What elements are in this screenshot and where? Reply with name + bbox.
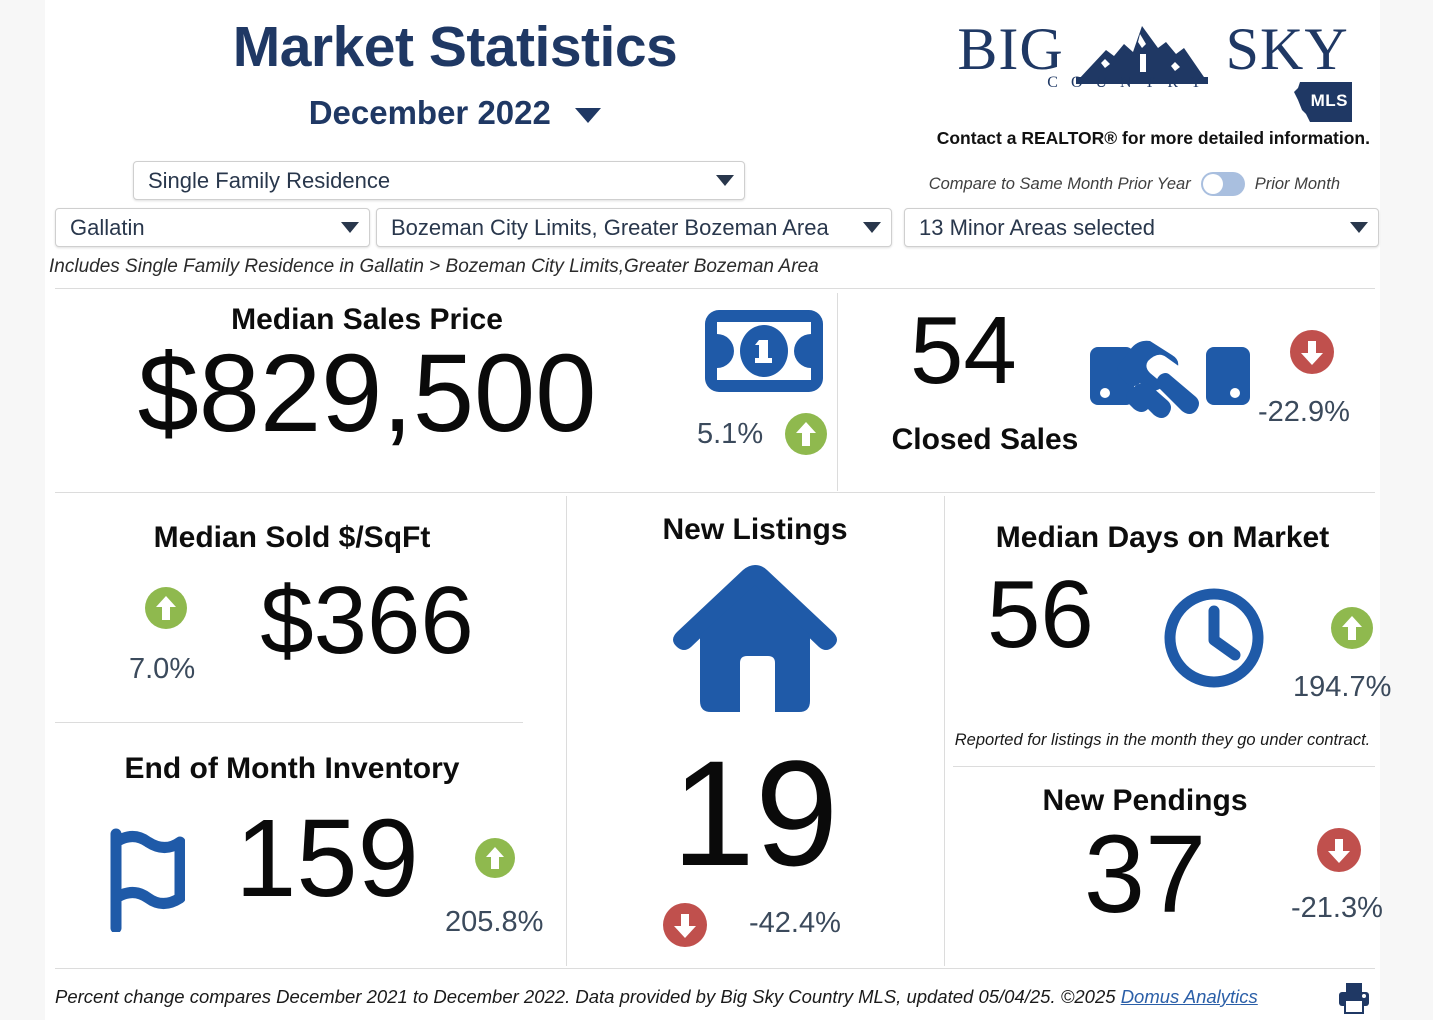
compare-period-toggle[interactable] xyxy=(1201,172,1245,196)
county-select[interactable]: Gallatin xyxy=(55,208,370,247)
arrow-down-badge-icon xyxy=(1290,330,1334,374)
house-icon xyxy=(670,561,840,716)
card-end-of-month-inventory: End of Month Inventory 159 205.8% xyxy=(57,728,527,968)
divider-vertical-top xyxy=(837,293,838,491)
card-median-days-on-market: Median Days on Market 56 194.7% Reported… xyxy=(945,503,1380,758)
footer-text: Percent change compares December 2021 to… xyxy=(55,986,1121,1007)
median-sales-price-value: $829,500 xyxy=(57,339,677,449)
compare-prior-year-label: Compare to Same Month Prior Year xyxy=(929,175,1191,194)
arrow-up-badge-icon xyxy=(1331,607,1373,649)
logo-mls-text: MLS xyxy=(1311,91,1348,111)
area-value: Bozeman City Limits, Greater Bozeman Are… xyxy=(391,215,855,241)
county-value: Gallatin xyxy=(70,215,333,241)
flag-icon xyxy=(107,828,185,932)
closed-sales-change: -22.9% xyxy=(1258,396,1350,429)
logo-word-big: BIG xyxy=(957,16,1063,82)
domus-analytics-link[interactable]: Domus Analytics xyxy=(1121,986,1258,1007)
minor-areas-value: 13 Minor Areas selected xyxy=(919,215,1342,241)
new-listings-value: 19 xyxy=(569,738,941,888)
days-on-market-change: 194.7% xyxy=(1293,671,1391,704)
includes-description: Includes Single Family Residence in Gall… xyxy=(49,256,819,278)
page-title: Market Statistics xyxy=(45,14,865,80)
card-title: Median Sold $/SqFt xyxy=(57,521,527,555)
arrow-up-badge-icon xyxy=(145,587,187,629)
end-of-month-inventory-value: 159 xyxy=(197,804,457,914)
median-sales-price-change: 5.1% xyxy=(697,413,827,455)
change-percent: 5.1% xyxy=(697,418,763,451)
arrow-up-badge-icon xyxy=(475,838,515,878)
divider-sqft-bottom xyxy=(55,722,523,723)
money-bill-icon xyxy=(705,310,823,392)
chevron-down-icon[interactable] xyxy=(863,222,881,233)
divider-footer-top xyxy=(55,968,1375,969)
property-type-select[interactable]: Single Family Residence xyxy=(133,161,745,200)
divider-vertical-left xyxy=(566,496,567,966)
chevron-down-icon[interactable] xyxy=(1350,222,1368,233)
dashboard-page: Market Statistics December 2022 BIG SKY xyxy=(45,0,1380,1020)
footer-note: Percent change compares December 2021 to… xyxy=(55,986,1258,1008)
card-title: Median Days on Market xyxy=(945,521,1380,555)
arrow-down-badge-icon xyxy=(1317,828,1361,872)
month-selector[interactable]: December 2022 xyxy=(45,94,865,132)
area-select[interactable]: Bozeman City Limits, Greater Bozeman Are… xyxy=(376,208,892,247)
printer-icon[interactable] xyxy=(1337,982,1371,1014)
new-pendings-value: 37 xyxy=(945,820,1345,930)
big-sky-country-mls-logo: BIG SKY COUNTRY MLS xyxy=(938,8,1368,108)
contact-realtor-note: Contact a REALTOR® for more detailed inf… xyxy=(937,128,1370,149)
median-sold-sqft-value: $366 xyxy=(207,573,527,669)
days-on-market-note: Reported for listings in the month they … xyxy=(945,731,1380,750)
card-title: New Listings xyxy=(569,513,941,547)
card-title: End of Month Inventory xyxy=(57,752,527,786)
compare-toggle-group[interactable]: Compare to Same Month Prior Year Prior M… xyxy=(929,172,1340,196)
divider-header-bottom xyxy=(55,288,1375,289)
closed-sales-value: 54 xyxy=(910,303,1017,399)
month-label: December 2022 xyxy=(309,94,551,131)
compare-prior-month-label: Prior Month xyxy=(1255,175,1340,194)
logo-country-text: COUNTRY xyxy=(916,74,1346,92)
divider-dom-bottom xyxy=(953,766,1375,767)
card-median-sales-price: Median Sales Price $829,500 5.1% xyxy=(57,293,837,493)
arrow-up-badge-icon xyxy=(785,413,827,455)
days-on-market-value: 56 xyxy=(987,567,1094,663)
card-new-pendings: New Pendings 37 -21.3% xyxy=(945,770,1380,968)
card-new-listings: New Listings 19 -42.4% xyxy=(569,503,941,968)
clock-icon xyxy=(1161,585,1267,691)
end-of-month-inventory-change: 205.8% xyxy=(445,906,543,939)
card-title: Closed Sales xyxy=(890,423,1080,457)
new-pendings-change: -21.3% xyxy=(1291,892,1383,925)
arrow-down-badge-icon xyxy=(663,903,707,947)
chevron-down-icon[interactable] xyxy=(716,175,734,186)
property-type-value: Single Family Residence xyxy=(148,168,708,194)
toggle-knob xyxy=(1203,174,1223,194)
median-sold-sqft-change: 7.0% xyxy=(129,653,195,686)
dashboard-header: Market Statistics December 2022 BIG SKY xyxy=(45,0,1380,290)
chevron-down-icon[interactable] xyxy=(575,108,601,123)
chevron-down-icon[interactable] xyxy=(341,222,359,233)
handshake-icon xyxy=(1090,325,1250,433)
minor-areas-select[interactable]: 13 Minor Areas selected xyxy=(904,208,1379,247)
new-listings-change: -42.4% xyxy=(749,907,841,940)
logo-word-sky: SKY xyxy=(1226,16,1349,82)
card-closed-sales: 54 Closed Sales -22.9% xyxy=(840,293,1380,493)
card-median-sold-sqft: Median Sold $/SqFt 7.0% $366 xyxy=(57,503,527,718)
